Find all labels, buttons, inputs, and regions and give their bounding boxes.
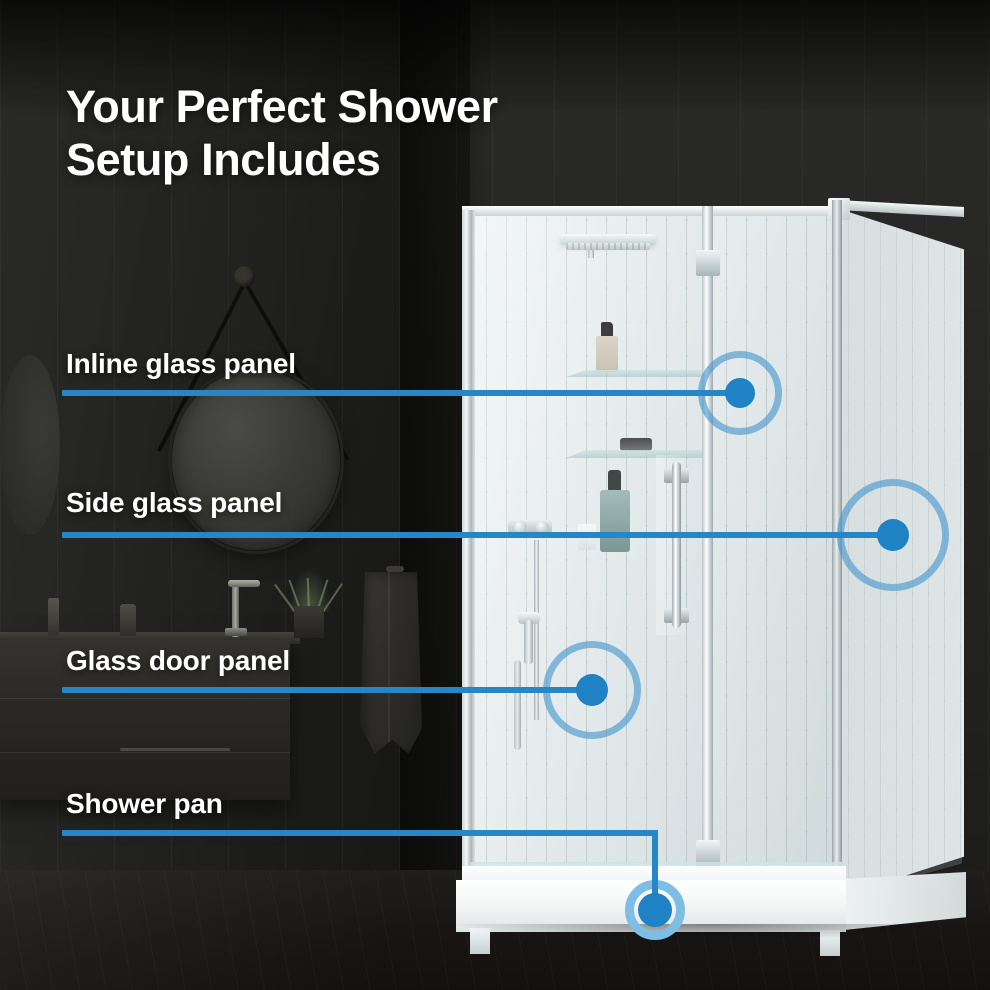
leader-line-glass-door-panel [62,687,596,693]
product-infographic: Your Perfect Shower Setup Includes Inlin… [0,0,990,990]
counter-bottle-a [48,598,59,636]
hanging-towel [360,572,422,754]
leader-line-shower-pan [62,830,658,836]
leader-line-side-glass-panel [62,532,897,538]
title-line-1: Your Perfect Shower [66,80,686,133]
callout-label-inline-glass-panel: Inline glass panel [66,348,296,380]
callout-label-glass-door-panel: Glass door panel [66,645,290,677]
top-rail-front [462,206,840,216]
door-jamb-post [702,206,713,898]
marker-dot-inline-glass-panel[interactable] [725,378,755,408]
faucet-spout [228,580,260,587]
marker-dot-side-glass-panel[interactable] [877,519,909,551]
faucet-base [225,628,247,636]
pan-ground-shadow [450,924,970,940]
counter-bottle-b [120,604,136,636]
plant-leaves [286,562,334,612]
marker-dot-glass-door-panel[interactable] [576,674,608,706]
page-title: Your Perfect Shower Setup Includes [66,80,686,186]
callout-label-side-glass-panel: Side glass panel [66,487,282,519]
vanity-drawer-handle [120,748,230,751]
glass-door-panel-surface [708,206,838,900]
mirror-partial-left [0,355,60,535]
wall-profile-left [462,210,475,898]
mirror-wall-knob [234,266,255,287]
leader-line-inline-glass-panel [62,390,744,396]
marker-dot-shower-pan[interactable] [638,893,672,927]
towel-fold [388,572,390,742]
door-hinge-top [696,250,720,276]
plant-pot [294,606,324,638]
callout-label-shower-pan: Shower pan [66,788,223,820]
door-handle[interactable] [672,462,681,628]
title-line-2: Setup Includes [66,133,686,186]
